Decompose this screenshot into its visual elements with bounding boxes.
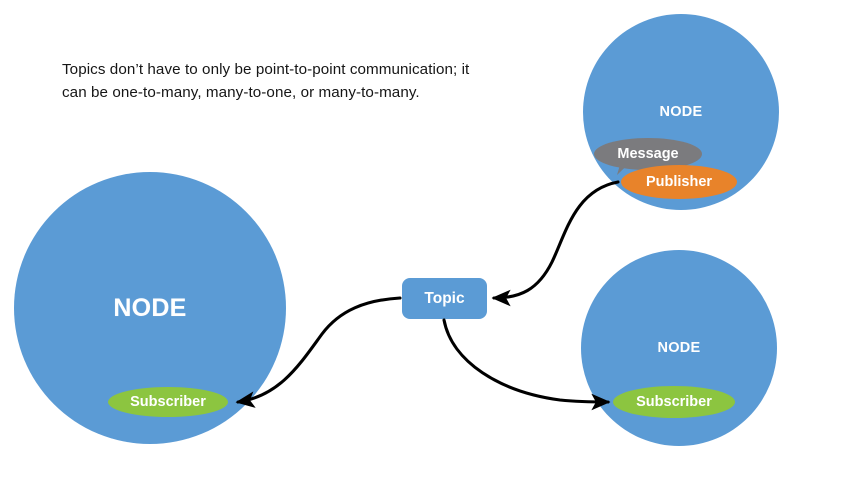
arrow-publisher-to-topic [494, 182, 618, 298]
subscriber-bottom-right-ellipse[interactable] [613, 386, 735, 418]
slide-canvas: Topics don’t have to only be point-to-po… [0, 0, 854, 480]
publisher-ellipse[interactable] [621, 165, 737, 199]
diagram-svg [0, 0, 854, 480]
topic-box-shape[interactable] [402, 278, 487, 319]
subscriber-left-ellipse[interactable] [108, 387, 228, 417]
